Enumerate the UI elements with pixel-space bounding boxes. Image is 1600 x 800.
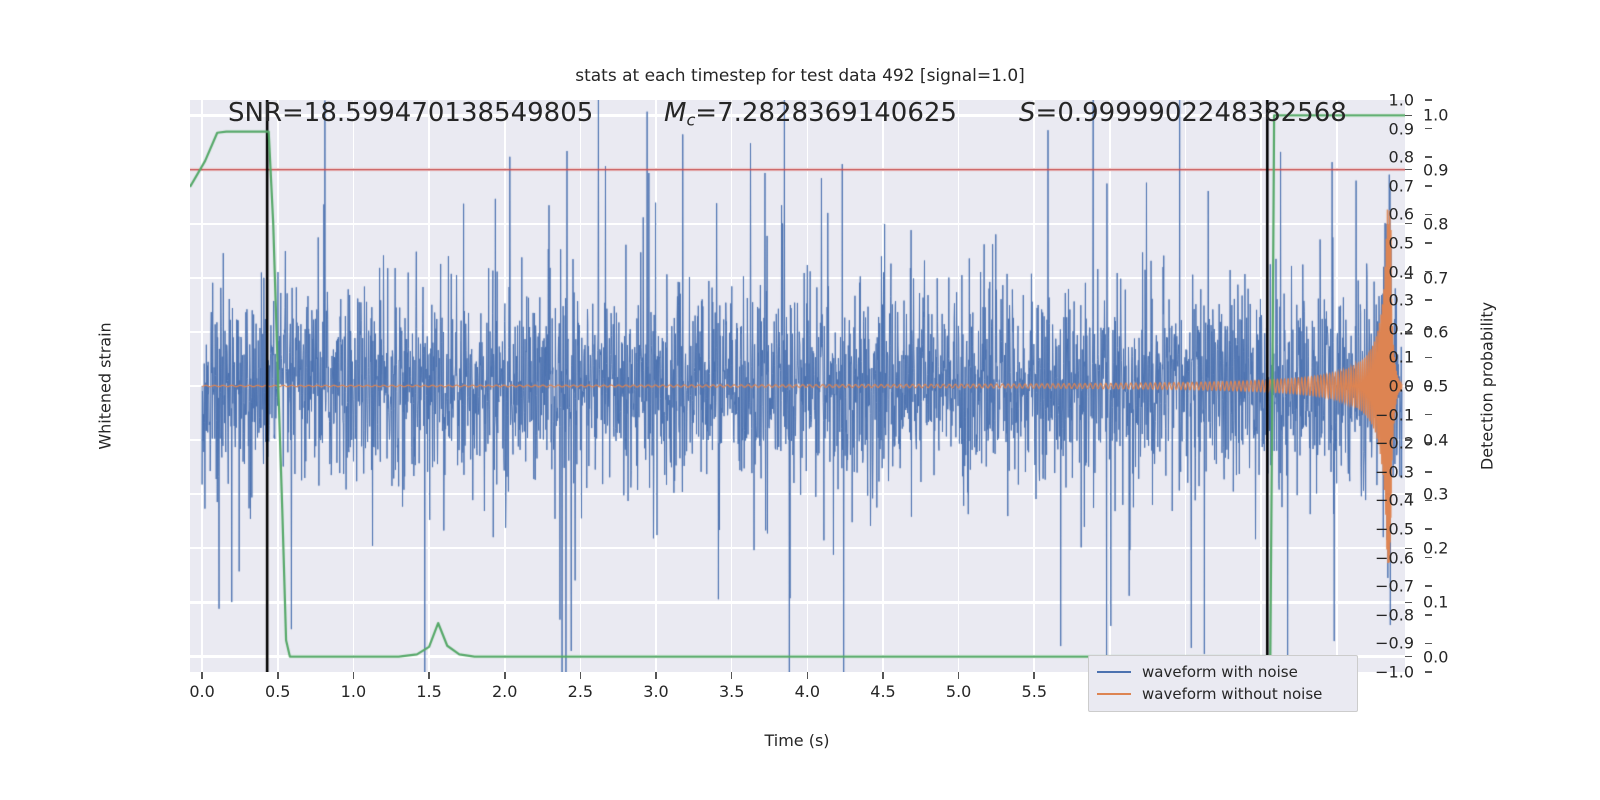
y-tick-label-right: 0.3	[1423, 485, 1448, 504]
tick-mark	[1405, 439, 1412, 441]
tick-mark	[201, 672, 203, 679]
y-tick-label-left: 0.9	[1389, 119, 1414, 138]
chart-legend: waveform with noisewaveform without nois…	[1088, 655, 1358, 712]
tick-mark	[1425, 528, 1432, 530]
tick-mark	[1425, 128, 1432, 130]
tick-mark	[353, 672, 355, 679]
y-tick-label-left: −0.8	[1375, 605, 1414, 624]
tick-mark	[504, 672, 506, 679]
waveform-canvas	[190, 100, 1405, 672]
x-tick-label: 3.0	[643, 682, 668, 701]
y-tick-label-right: 0.6	[1423, 322, 1448, 341]
y-tick-label-left: 0.8	[1389, 148, 1414, 167]
legend-color-swatch	[1097, 671, 1131, 674]
y-tick-label-right: 0.5	[1423, 377, 1448, 396]
tick-mark	[958, 672, 960, 679]
x-tick-label: 5.5	[1022, 682, 1047, 701]
y-tick-label-left: 1.0	[1389, 91, 1414, 110]
y-tick-label-left: 0.5	[1389, 234, 1414, 253]
x-tick-label: 4.5	[870, 682, 895, 701]
tick-mark	[1425, 671, 1432, 673]
tick-mark	[1405, 277, 1412, 279]
tick-mark	[731, 672, 733, 679]
tick-mark	[1425, 643, 1432, 645]
legend-label: waveform without noise	[1142, 685, 1322, 703]
tick-mark	[882, 672, 884, 679]
x-tick-label: 0.5	[265, 682, 290, 701]
y-tick-label-left: 0.1	[1389, 348, 1414, 367]
legend-item: waveform with noise	[1097, 661, 1349, 683]
y-tick-label-left: 0.6	[1389, 205, 1414, 224]
tick-mark	[277, 672, 279, 679]
tick-mark	[1425, 185, 1432, 187]
tick-mark	[655, 672, 657, 679]
annotation-mc: Mc=7.2828369140625	[664, 100, 957, 129]
tick-mark	[1405, 169, 1412, 171]
tick-mark	[1405, 385, 1412, 387]
x-axis-label: Time (s)	[764, 731, 829, 750]
x-tick-label: 2.0	[492, 682, 517, 701]
y-axis-label-right: Detection probability	[1478, 302, 1497, 470]
y-tick-label-left: −0.7	[1375, 577, 1414, 596]
tick-mark	[1405, 223, 1412, 225]
tick-mark	[1425, 414, 1432, 416]
tick-mark	[807, 672, 809, 679]
y-tick-label-right: 1.0	[1423, 106, 1448, 125]
tick-mark	[1405, 548, 1412, 550]
tick-mark	[1405, 602, 1412, 604]
legend-item: waveform without noise	[1097, 683, 1349, 705]
x-tick-label: 1.5	[416, 682, 441, 701]
y-tick-label-left: −0.2	[1375, 434, 1414, 453]
tick-mark	[428, 672, 430, 679]
y-tick-label-right: 0.4	[1423, 431, 1448, 450]
data-layer	[190, 100, 1405, 672]
annotation-snr: SNR=18.599470138549805	[228, 100, 593, 126]
tick-mark	[1425, 156, 1432, 158]
legend-color-swatch	[1097, 693, 1131, 696]
tick-mark	[1425, 614, 1432, 616]
tick-mark	[580, 672, 582, 679]
tick-mark	[1425, 357, 1432, 359]
tick-mark	[1425, 99, 1432, 101]
tick-mark	[1405, 493, 1412, 495]
y-axis-label-left: Whitened strain	[96, 322, 115, 449]
y-tick-label-left: −0.3	[1375, 462, 1414, 481]
tick-mark	[1405, 331, 1412, 333]
x-tick-label: 4.0	[795, 682, 820, 701]
y-tick-label-left: −0.9	[1375, 634, 1414, 653]
y-tick-label-left: −0.5	[1375, 520, 1414, 539]
y-tick-label-right: 0.0	[1423, 647, 1448, 666]
annotation-s: S=0.9999902248382568	[1019, 100, 1347, 126]
tick-mark	[1425, 299, 1432, 301]
y-tick-label-left: −0.1	[1375, 405, 1414, 424]
plot-area	[190, 100, 1405, 672]
tick-mark	[1425, 585, 1432, 587]
tick-mark	[1425, 471, 1432, 473]
y-tick-label-right: 0.7	[1423, 268, 1448, 287]
chart-title: stats at each timestep for test data 492…	[0, 66, 1600, 86]
y-tick-label-right: 0.2	[1423, 539, 1448, 558]
y-tick-label-right: 0.1	[1423, 593, 1448, 612]
y-tick-label-left: 0.7	[1389, 176, 1414, 195]
y-tick-label-right: 0.8	[1423, 214, 1448, 233]
x-tick-label: 0.0	[189, 682, 214, 701]
x-tick-label: 5.0	[946, 682, 971, 701]
x-tick-label: 2.5	[568, 682, 593, 701]
y-tick-label-left: −1.0	[1375, 663, 1414, 682]
x-tick-label: 3.5	[719, 682, 744, 701]
x-tick-label: 1.0	[341, 682, 366, 701]
gravitational-wave-figure: stats at each timestep for test data 492…	[0, 0, 1600, 800]
y-tick-label-left: 0.3	[1389, 291, 1414, 310]
tick-mark	[1033, 672, 1035, 679]
y-tick-label-left: 0.2	[1389, 319, 1414, 338]
tick-mark	[1405, 115, 1412, 117]
tick-mark	[1405, 656, 1412, 658]
tick-mark	[1425, 242, 1432, 244]
legend-label: waveform with noise	[1142, 663, 1298, 681]
y-tick-label-left: −0.6	[1375, 548, 1414, 567]
y-tick-label-right: 0.9	[1423, 160, 1448, 179]
